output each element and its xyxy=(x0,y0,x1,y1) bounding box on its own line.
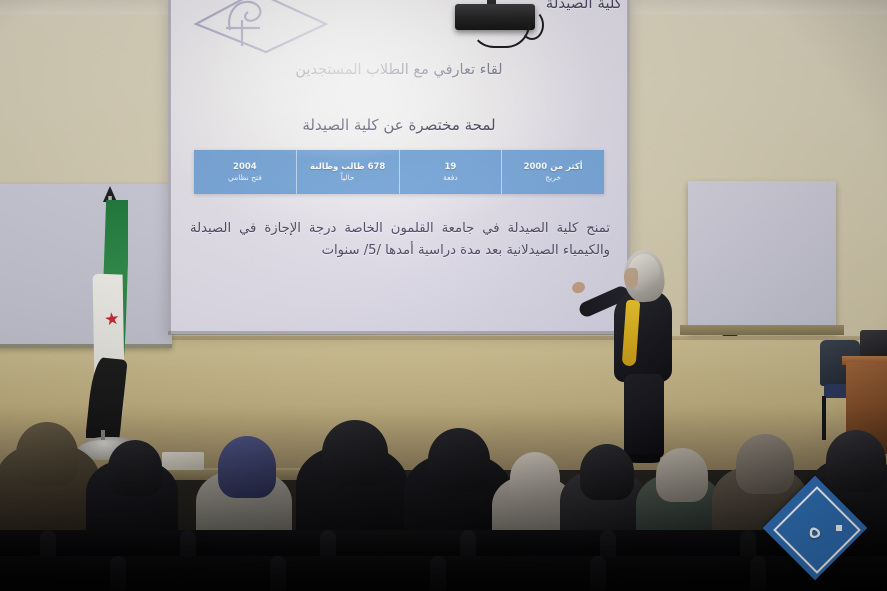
watermark-arabic-glyph: ه xyxy=(766,479,864,577)
whiteboard-right xyxy=(688,181,836,332)
stat-cell: 2004 فتح نظامي xyxy=(194,150,296,194)
presenter-face xyxy=(624,268,638,288)
channel-logo-watermark: ه xyxy=(766,479,864,577)
pharmacy-faculty-logo xyxy=(186,0,336,56)
audience-head xyxy=(428,428,490,492)
audience-head xyxy=(580,444,634,500)
whiteboard-ledge xyxy=(680,325,844,335)
stat-value: 2004 xyxy=(233,162,257,172)
slide-corner-title: كلية الصيدلة xyxy=(546,0,622,12)
screen-frame-bottom xyxy=(168,331,630,335)
projector-cable-loop xyxy=(520,10,544,40)
stat-value: 678 طالب وطالبة xyxy=(310,162,385,172)
audience-head xyxy=(322,420,388,486)
stat-label: خريج xyxy=(545,173,561,182)
slide-stats-table: أكثر من 2000 خريج 19 دفعة 678 طالب وطالب… xyxy=(194,150,604,194)
stat-cell: أكثر من 2000 خريج xyxy=(501,150,604,194)
slide-paragraph: تمنح كلية الصيدلة في جامعة القلمون الخاص… xyxy=(190,218,610,262)
stat-cell: 678 طالب وطالبة حالياً xyxy=(296,150,399,194)
audience-head xyxy=(218,436,276,498)
audience-head xyxy=(656,448,708,502)
presenter-torso xyxy=(614,290,672,382)
seated-audience xyxy=(0,404,887,591)
audience-head xyxy=(510,452,560,504)
watermark-dot xyxy=(836,525,842,531)
audience-head xyxy=(16,422,78,486)
projection-screen: كلية الصيدلة لقاء تعارفي مع الطلاب المست… xyxy=(168,0,630,334)
stat-label: دفعة xyxy=(443,173,458,182)
stat-value: 19 xyxy=(444,162,456,172)
seat-row xyxy=(0,556,887,591)
stat-value: أكثر من 2000 xyxy=(524,162,583,172)
slide-heading-1: لقاء تعارفي مع الطلاب المستجدين xyxy=(168,62,630,78)
screen-frame-left xyxy=(168,0,171,334)
stat-cell: 19 دفعة xyxy=(399,150,502,194)
stat-label: فتح نظامي xyxy=(228,173,262,182)
lecture-hall-photo: كلية الصيدلة لقاء تعارفي مع الطلاب المست… xyxy=(0,0,887,591)
audience-head xyxy=(108,440,162,496)
presentation-slide: كلية الصيدلة لقاء تعارفي مع الطلاب المست… xyxy=(168,0,630,334)
stat-label: حالياً xyxy=(341,173,355,182)
slide-heading-2: لمحة مختصرة عن كلية الصيدلة xyxy=(168,116,630,134)
syrian-independence-flag xyxy=(86,200,128,438)
